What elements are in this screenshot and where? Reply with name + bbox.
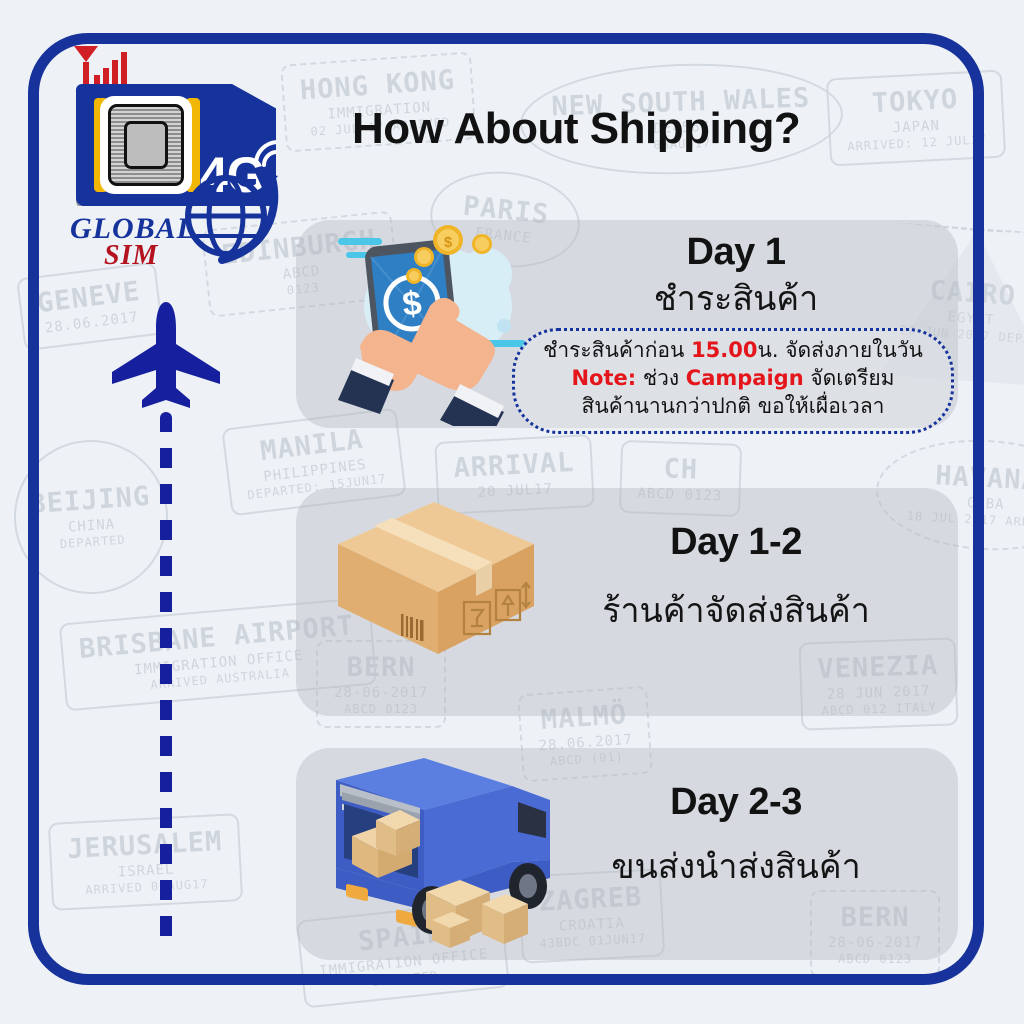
infographic-canvas: HONG KONGimmigration02 JUL 17 ARRIVEDTOK…: [0, 0, 1024, 1024]
page-title: How About Shipping?: [352, 104, 800, 154]
passport-stamp: JERUSALEMISRAELARRIVED 06AUG17: [48, 813, 244, 911]
airplane-icon: [106, 300, 226, 410]
note-line2-post: จัดเตรียม: [804, 366, 895, 390]
step-day-label: Day 2-3: [560, 782, 912, 824]
step-day-label: Day 1-2: [560, 522, 912, 564]
brand-name-line2: SIM: [104, 240, 158, 272]
note-campaign-word: Campaign: [686, 366, 804, 390]
cardboard-box-illustration: [330, 496, 542, 660]
note-label: Note:: [571, 366, 636, 390]
payment-note-box: ชำระสินค้าก่อน 15.00น. จัดส่งภายในวัน No…: [512, 328, 954, 434]
svg-text:$: $: [401, 284, 424, 324]
note-line1-post: น. จัดส่งภายในวัน: [758, 338, 923, 362]
note-line2-mid: ช่วง: [636, 366, 686, 390]
note-line-1: ชำระสินค้าก่อน 15.00น. จัดส่งภายในวัน: [529, 337, 937, 365]
phone-payment-illustration: $ $: [326, 214, 542, 426]
step-text-payment: Day 1 ชำระสินค้า: [560, 232, 912, 320]
step-text-courier-delivers: Day 2-3 ขนส่งนำส่งสินค้า: [560, 782, 912, 888]
delivery-truck-illustration: [322, 752, 574, 952]
note-line1-pre: ชำระสินค้าก่อน: [543, 338, 691, 362]
step-thai-label: ชำระสินค้า: [560, 278, 912, 321]
note-line-3: สินค้านานกว่าปกติ ขอให้เผื่อเวลา: [529, 393, 937, 421]
step-day-label: Day 1: [560, 232, 912, 274]
step-thai-label: ขนส่งนำส่งสินค้า: [560, 846, 912, 889]
note-line-2: Note: ช่วง Campaign จัดเตรียม: [529, 365, 937, 393]
note-cutoff-time: 15.00: [691, 338, 757, 362]
signal-bars-icon: [72, 44, 128, 90]
dotted-trail-icon: [160, 412, 172, 952]
svg-text:$: $: [444, 234, 453, 251]
step-thai-label: ร้านค้าจัดส่งสินค้า: [560, 590, 912, 633]
global-sim-logo: 4G GLOBAL SIM: [62, 44, 302, 264]
step-text-shop-ships: Day 1-2 ร้านค้าจัดส่งสินค้า: [560, 522, 912, 632]
passport-stamp: BEIJINGCHINADEPARTED: [9, 435, 173, 599]
passport-stamp: TOKYOJAPANARRIVED: 12 JUL17: [826, 69, 1006, 166]
